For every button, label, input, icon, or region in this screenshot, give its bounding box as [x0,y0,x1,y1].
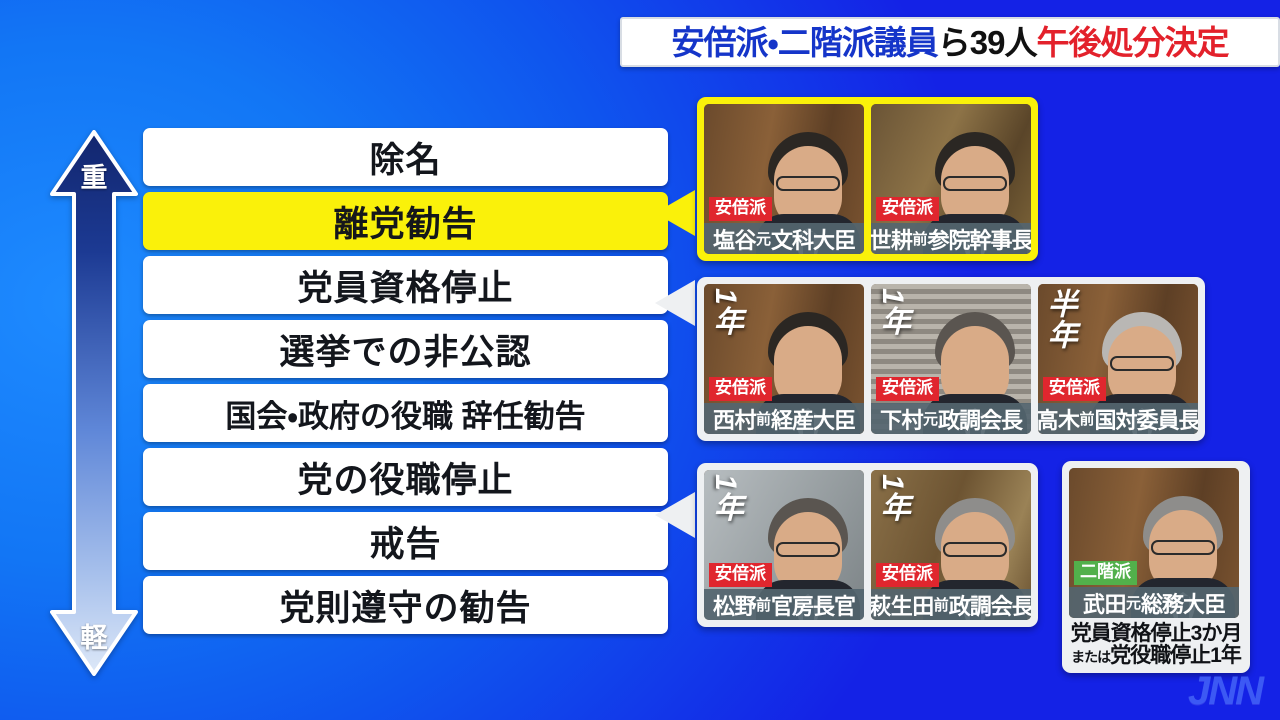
member-namebar: 世耕 前 参院幹事長 [871,223,1031,254]
news-graphic-stage: 安倍派・二階派議員 ら39人 午後処分決定 重 軽 除名 離党勧告 党員資格停止… [0,0,1280,720]
takeda-caption-line1: 党員資格停止3か月 [1069,623,1243,645]
faction-badge: 安倍派 [709,197,772,221]
member-title-prefix: 前 [913,228,928,249]
member-card-hagiuda[interactable]: 1年 安倍派 萩生田 前 政調会長 [871,470,1031,620]
member-title: 国対委員長 [1095,403,1198,435]
member-title: 官房長官 [771,589,855,621]
takeda-panel: 二階派 武田 元 総務大臣 党員資格停止3か月 または党役職停止1年 [1062,461,1250,673]
pointer-arrow-leaving-party [655,190,695,236]
term-label: 1年 [877,474,906,523]
jnn-logo-watermark: JNN [1188,669,1262,714]
member-surname: 高木 [1038,403,1080,435]
severity-axis-arrow: 重 軽 [48,128,140,678]
penalty-label: 戒告 [369,516,441,567]
headline-segment-count: ら39人 [938,26,1037,59]
member-title: 参院幹事長 [928,223,1031,255]
takeda-caption-alt-text: 党役職停止1年 [1110,644,1241,667]
party-post-suspension-group: 1年 安倍派 松野 前 官房長官 1年 安倍派 萩生田 前 政調会長 [697,463,1038,627]
faction-badge: 安倍派 [709,563,772,587]
member-namebar: 塩谷 元 文科大臣 [704,223,864,254]
term-label: 1年 [710,288,739,337]
headline-segment-factions: 安倍派・二階派議員 [672,26,938,59]
penalty-row-5[interactable]: 党の役職停止 [143,448,668,506]
penalty-row-7[interactable]: 党則遵守の勧告 [143,576,668,634]
member-title-prefix: 前 [756,594,771,615]
member-namebar: 武田 元 総務大臣 [1069,587,1239,618]
term-label: 半年 [1044,288,1073,350]
penalty-label: 党の役職停止 [297,452,513,503]
member-title: 経産大臣 [771,403,855,435]
penalty-row-0[interactable]: 除名 [143,128,668,186]
member-surname: 松野 [713,589,756,621]
member-card-matsuno[interactable]: 1年 安倍派 松野 前 官房長官 [704,470,864,620]
member-card-nishimura[interactable]: 1年 安倍派 西村 前 経産大臣 [704,284,864,434]
member-namebar: 高木 前 国対委員長 [1038,403,1198,434]
member-title-prefix: 前 [1080,408,1095,429]
penalty-label: 離党勧告 [333,196,477,247]
member-surname: 下村 [880,403,923,435]
penalty-ladder: 除名 離党勧告 党員資格停止 選挙での非公認 国会・政府の役職 辞任勧告 党の役… [143,128,668,640]
member-title: 政調会長 [938,403,1022,435]
term-label: 1年 [710,474,739,523]
member-card-takagi[interactable]: 半年 安倍派 高木 前 国対委員長 [1038,284,1198,434]
penalty-label: 除名 [369,132,441,183]
member-card-takeda[interactable]: 二階派 武田 元 総務大臣 [1069,468,1239,618]
faction-badge: 安倍派 [876,197,939,221]
penalty-row-4[interactable]: 国会・政府の役職 辞任勧告 [143,384,668,442]
leaving-party-recommendation-group: 安倍派 塩谷 元 文科大臣 安倍派 世耕 前 参院幹事長 [697,97,1038,261]
penalty-row-2[interactable]: 党員資格停止 [143,256,668,314]
penalty-label: 党則遵守の勧告 [279,580,531,631]
member-namebar: 西村 前 経産大臣 [704,403,864,434]
member-namebar: 下村 元 政調会長 [871,403,1031,434]
penalty-row-3[interactable]: 選挙での非公認 [143,320,668,378]
pointer-arrow-membership-suspension [655,280,695,326]
member-title: 文科大臣 [771,223,855,255]
member-title-prefix: 元 [756,228,771,249]
takeda-caption-line2: または党役職停止1年 [1069,645,1243,667]
member-title-prefix: 元 [1126,592,1141,613]
faction-badge: 安倍派 [709,377,772,401]
member-card-sekou[interactable]: 安倍派 世耕 前 参院幹事長 [871,104,1031,254]
headline-segment-decision: 午後処分決定 [1036,26,1228,59]
penalty-label: 国会・政府の役職 辞任勧告 [225,391,585,436]
member-title-prefix: 前 [934,594,949,615]
membership-suspension-group: 1年 安倍派 西村 前 経産大臣 1年 安倍派 下村 元 政調会長 [697,277,1205,441]
faction-badge: 安倍派 [876,563,939,587]
member-namebar: 萩生田 前 政調会長 [871,589,1031,620]
severity-label-heavy: 重 [48,156,140,195]
member-title: 政調会長 [949,589,1031,621]
penalty-row-1[interactable]: 離党勧告 [143,192,668,250]
pointer-arrow-party-post-suspension [655,492,695,538]
member-surname: 西村 [713,403,756,435]
faction-badge: 二階派 [1074,561,1137,585]
member-title-prefix: 元 [923,408,938,429]
severity-label-light: 軽 [48,616,140,655]
term-label: 1年 [877,288,906,337]
member-surname: 萩生田 [871,589,934,621]
faction-badge: 安倍派 [876,377,939,401]
penalty-label: 選挙での非公認 [279,324,531,375]
takeda-penalty-caption: 党員資格停止3か月 または党役職停止1年 [1069,623,1243,667]
member-surname: 武田 [1083,587,1126,619]
member-card-shionoya[interactable]: 安倍派 塩谷 元 文科大臣 [704,104,864,254]
member-surname: 塩谷 [713,223,756,255]
member-title-prefix: 前 [756,408,771,429]
headline-banner: 安倍派・二階派議員 ら39人 午後処分決定 [620,17,1280,67]
takeda-caption-alt-prefix: または [1071,649,1110,665]
member-card-shimomura[interactable]: 1年 安倍派 下村 元 政調会長 [871,284,1031,434]
faction-badge: 安倍派 [1043,377,1106,401]
member-title: 総務大臣 [1141,587,1225,619]
member-surname: 世耕 [871,223,913,255]
penalty-row-6[interactable]: 戒告 [143,512,668,570]
member-namebar: 松野 前 官房長官 [704,589,864,620]
penalty-label: 党員資格停止 [297,260,513,311]
